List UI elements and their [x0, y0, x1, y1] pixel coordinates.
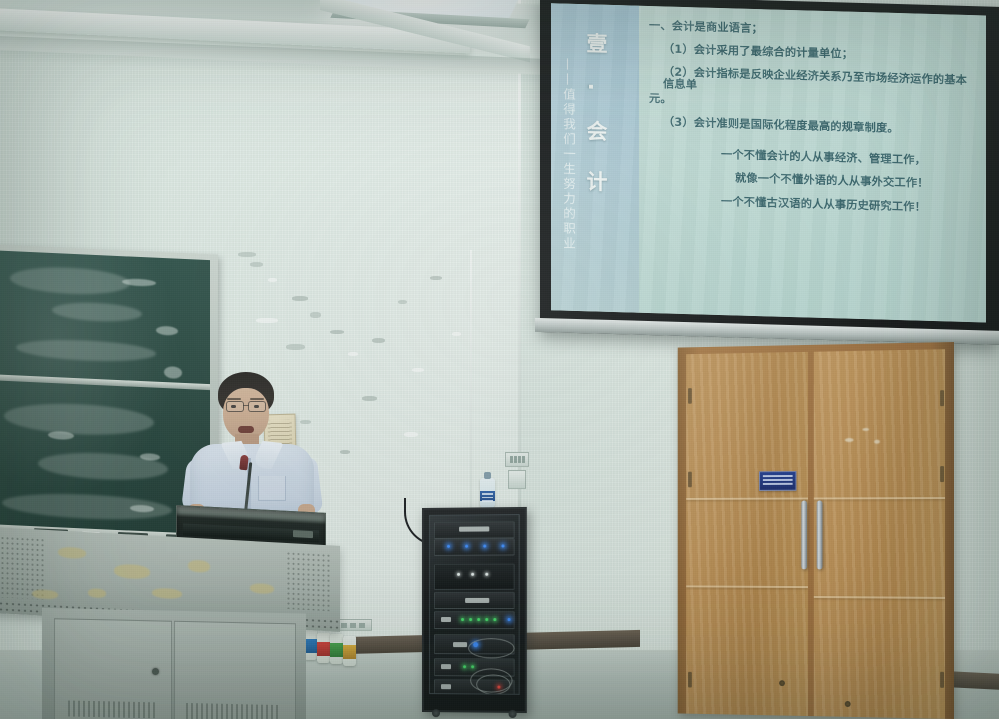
wooden-door-right[interactable] — [814, 349, 945, 719]
wall-blemish — [250, 262, 263, 267]
rack-glass-door[interactable] — [429, 514, 520, 695]
rack-caster — [432, 709, 440, 717]
wall-blemish — [362, 396, 377, 401]
floor-supply-bottle — [343, 636, 356, 666]
wall-blemish — [412, 368, 424, 372]
slide-line: （3）会计准则是国际化程度最高的规章制度。 — [663, 116, 978, 136]
door-hinge — [940, 390, 944, 406]
slide-body: 一、会计是商业语言； （1）会计采用了最综合的计量单位； （2）会计指标是反映企… — [639, 6, 986, 323]
slide-line: 一个不懂古汉语的人从事历史研究工作！ — [721, 196, 978, 214]
presentation-slide: 壹 . 会 计 ——值得我们一生努力的职业 一、会计是商业语言； （1）会计采用… — [551, 3, 986, 322]
gooseneck-microphone-head — [239, 455, 249, 471]
lecturer-eyebrow — [227, 398, 241, 400]
rack-unit-processor — [434, 592, 515, 609]
wall-blemish — [330, 330, 344, 334]
slide-line: 就像一个不懂外语的人从事外交工作！ — [735, 173, 978, 191]
wall-blemish — [286, 344, 305, 350]
door-hinge — [688, 672, 692, 688]
slide-line: （2）会计指标是反映企业经济关系乃至市场经济运作的基本信息单 — [663, 67, 978, 98]
lecturer — [186, 372, 318, 522]
av-equipment-rack[interactable] — [422, 507, 527, 713]
floor-supply-bottle — [317, 633, 330, 663]
wall-blemish — [310, 312, 321, 318]
wall-blemish — [238, 252, 256, 257]
rack-unit-blank — [434, 564, 515, 590]
door-hinge — [688, 388, 692, 404]
slide-line: 一、会计是商业语言； — [649, 20, 978, 40]
wall-blemish — [452, 332, 461, 336]
lecturer-mouth — [238, 426, 254, 433]
water-bottle[interactable] — [480, 478, 495, 508]
slide-sidebar: 壹 . 会 计 ——值得我们一生努力的职业 — [551, 3, 639, 312]
wall-blemish — [340, 450, 350, 454]
rack-cable-coil — [468, 638, 515, 658]
wall-blemish — [404, 432, 418, 437]
rack-unit-amplifier — [434, 521, 515, 539]
slide-chapter-number: 壹 . 会 计 — [581, 32, 611, 203]
rack-unit-mixer — [434, 538, 515, 556]
wall-blemish — [268, 278, 277, 282]
projection-screen-surface: 壹 . 会 计 ——值得我们一生努力的职业 一、会计是商业语言； （1）会计采用… — [551, 3, 986, 322]
door-lock-right[interactable] — [845, 701, 851, 707]
wall-blemish — [372, 338, 385, 343]
bottle-label — [480, 491, 495, 501]
wall-blemish — [348, 352, 358, 356]
door-handle-left[interactable] — [801, 500, 807, 569]
door-handle-right[interactable] — [817, 500, 823, 569]
slide-line: （1）会计采用了最综合的计量单位； — [663, 44, 978, 64]
wooden-door-left[interactable] — [686, 352, 808, 716]
door-rail — [686, 498, 808, 500]
wall-blemish — [398, 300, 407, 304]
door-hinge — [688, 472, 692, 488]
podium-cabinet-lock[interactable] — [152, 668, 159, 675]
door-rail — [814, 497, 945, 499]
wall-electrical-panel-lower[interactable] — [508, 470, 526, 489]
door-wood-grain — [686, 352, 808, 716]
slide-chapter-subtitle: ——值得我们一生努力的职业 — [559, 58, 578, 252]
lecturer-eyebrow — [250, 398, 264, 400]
door-hinge — [940, 466, 944, 482]
classroom-photo: 壹 . 会 计 ——值得我们一生努力的职业 一、会计是商业语言； （1）会计采用… — [0, 0, 999, 719]
wall-blemish — [292, 296, 308, 301]
door-notice-sign — [759, 471, 796, 491]
floor-supply-bottle — [330, 634, 343, 664]
podium-monitor-button[interactable] — [293, 530, 313, 538]
rack-unit-network-switch — [434, 611, 515, 629]
podium-vent — [186, 703, 280, 719]
blackboard-surface — [0, 250, 210, 548]
podium-vent — [68, 701, 158, 719]
lecturer-shirt-pocket — [258, 476, 286, 501]
lectern-podium-body — [42, 608, 306, 719]
eyeglasses-icon — [224, 401, 268, 410]
bottle-cap — [484, 472, 491, 479]
wall-blemish — [430, 276, 442, 280]
rack-caster — [509, 710, 517, 718]
door-scuff — [874, 440, 880, 444]
projection-screen: 壹 . 会 计 ——值得我们一生努力的职业 一、会计是商业语言； （1）会计采用… — [540, 0, 999, 345]
wall-blemish — [256, 318, 278, 323]
double-wooden-doors[interactable] — [678, 342, 954, 719]
door-hinge — [940, 672, 944, 688]
wall-electrical-panel[interactable] — [505, 452, 529, 467]
rack-cable-coil — [476, 674, 510, 694]
slide-line: 一个不懂会计的人从事经济、管理工作， — [721, 149, 978, 167]
door-wood-grain — [814, 349, 945, 719]
door-lock-left[interactable] — [779, 680, 785, 686]
